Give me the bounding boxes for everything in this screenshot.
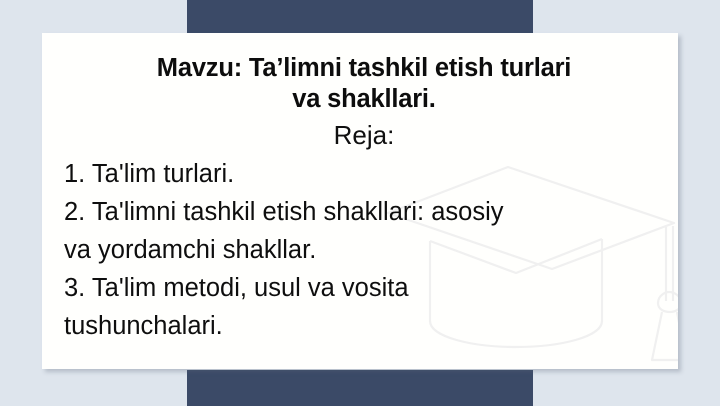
list-item: 2. Ta'limni tashkil etish shakllari: aso… bbox=[64, 193, 664, 269]
list-item: 3. Ta'lim metodi, usul va vosita tushunc… bbox=[64, 269, 664, 345]
slide-text-block: Mavzu: Ta’limni tashkil etish turlari va… bbox=[42, 33, 678, 345]
slide-canvas: Mavzu: Ta’limni tashkil etish turlari va… bbox=[0, 0, 720, 406]
slide-content-card: Mavzu: Ta’limni tashkil etish turlari va… bbox=[42, 33, 678, 369]
section-label-reja: Reja: bbox=[64, 119, 664, 152]
plan-list: 1. Ta'lim turlari. 2. Ta'limni tashkil e… bbox=[64, 155, 664, 345]
page-title: Mavzu: Ta’limni tashkil etish turlari va… bbox=[64, 53, 664, 115]
list-item: 1. Ta'lim turlari. bbox=[64, 155, 664, 193]
decorative-band-top bbox=[187, 0, 533, 33]
decorative-band-bottom bbox=[187, 370, 533, 406]
